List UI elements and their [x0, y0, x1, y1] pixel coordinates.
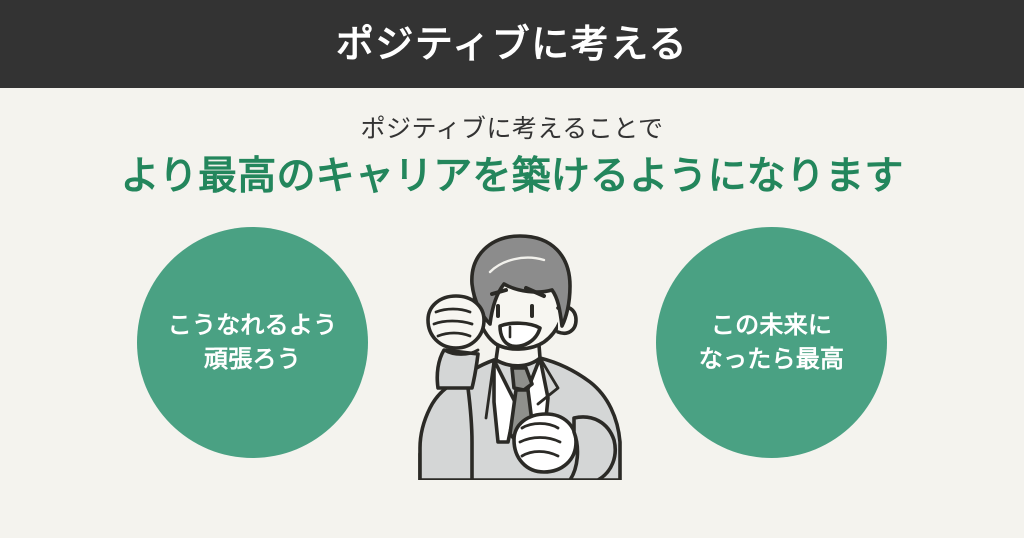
businessman-illustration [398, 228, 642, 480]
businessman-fists-raised-icon [398, 228, 642, 480]
bubble-right: この未来に なったら最高 [656, 227, 887, 458]
main-headline-text: より最高のキャリアを築けるようになります [0, 155, 1024, 199]
header-bar: ポジティブに考える [0, 0, 1024, 88]
bubble-right-label: この未来に なったら最高 [689, 309, 854, 375]
slide-root: ポジティブに考える ポジティブに考えることで より最高のキャリアを築けるようにな… [0, 0, 1024, 538]
subheadline-text: ポジティブに考えることで [0, 115, 1024, 143]
bubble-left: こうなれるよう 頑張ろう [137, 227, 368, 458]
headline-block: ポジティブに考えることで より最高のキャリアを築けるようになります [0, 88, 1024, 198]
bubble-left-label: こうなれるよう 頑張ろう [158, 309, 348, 375]
page-title: ポジティブに考える [336, 25, 688, 63]
